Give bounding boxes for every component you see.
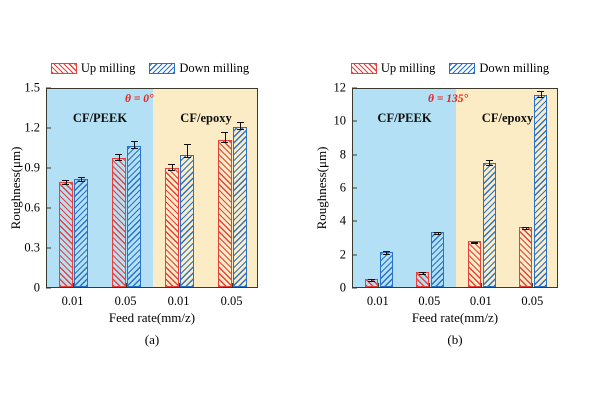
error-bar-cap (237, 129, 244, 130)
x-tick-mark (378, 283, 379, 288)
bar-up-milling (165, 168, 179, 287)
error-bar-cap (62, 184, 69, 185)
x-tick-label: 0.05 (115, 294, 137, 309)
error-bar-cap (78, 177, 85, 178)
error-bar-cap (237, 122, 244, 123)
bar-up-milling (112, 158, 126, 287)
error-bar-cap (522, 229, 529, 230)
bar-up-milling (218, 140, 232, 287)
y-tick-label: 10 (334, 114, 353, 129)
plot-area-a: CF/PEEK CF/epoxy θ = 0° 00.30.60.91.21.5… (46, 88, 258, 288)
bars-container-b (353, 89, 557, 287)
y-tick-label: 0.6 (24, 201, 46, 216)
y-tick-mark (352, 254, 357, 255)
x-axis-label-b: Feed rate(mm/z) (352, 310, 558, 326)
error-bar-cap (383, 251, 390, 252)
error-bar-cap (537, 91, 544, 92)
error-bar-cap (168, 170, 175, 171)
error-bar-cap (434, 234, 441, 235)
y-tick-label: 0.3 (24, 241, 46, 256)
bar-down-milling (74, 179, 88, 287)
error-bar-cap (131, 141, 138, 142)
error-bar-cap (419, 272, 426, 273)
y-tick-label: 6 (340, 181, 352, 196)
x-tick-label: 0.01 (62, 294, 84, 309)
y-tick-mark (46, 248, 51, 249)
bar-down-milling (534, 95, 547, 287)
legend-entry-up-milling: Up milling (51, 62, 136, 75)
y-axis-label-a: Roughness(μm) (8, 147, 24, 230)
error-bar-cap (62, 180, 69, 181)
bar-down-milling (180, 155, 194, 287)
error-bar-cap (383, 254, 390, 255)
y-tick-mark (46, 168, 51, 169)
y-tick-mark (352, 88, 357, 89)
x-tick-mark (179, 283, 180, 288)
error-bar-cap (221, 142, 228, 143)
down-milling-swatch-icon (149, 63, 175, 74)
error-bar-cap (486, 165, 493, 166)
x-tick-mark (232, 283, 233, 288)
legend-entry-up-milling-b: Up milling (351, 62, 436, 75)
y-tick-label: 8 (340, 147, 352, 162)
panel-b: Up milling Down milling Roughness(μm) CF… (300, 0, 600, 400)
y-tick-mark (46, 208, 51, 209)
error-bar (225, 132, 226, 143)
bars-container-a (47, 89, 257, 287)
panel-a: Up milling Down milling Roughness(μm) CF… (0, 0, 300, 400)
x-tick-mark (73, 283, 74, 288)
y-axis-label-b: Roughness(μm) (314, 147, 330, 230)
x-tick-label: 0.01 (168, 294, 190, 309)
error-bar-cap (419, 274, 426, 275)
plot-area-b: CF/PEEK CF/epoxy θ = 135° 024681012 0.01… (352, 88, 558, 288)
error-bar-cap (131, 148, 138, 149)
error-bar (187, 144, 188, 157)
plot-frame-b: CF/PEEK CF/epoxy θ = 135° (352, 88, 558, 288)
legend-panel-b: Up milling Down milling (300, 62, 600, 75)
error-bar-cap (471, 243, 478, 244)
error-bar-cap (115, 160, 122, 161)
y-tick-mark (46, 128, 51, 129)
x-tick-mark (532, 283, 533, 288)
error-bar-cap (78, 181, 85, 182)
y-tick-mark (352, 121, 357, 122)
up-milling-swatch-icon (351, 63, 377, 74)
x-tick-label: 0.05 (221, 294, 243, 309)
plot-frame-a: CF/PEEK CF/epoxy θ = 0° (46, 88, 258, 288)
error-bar-cap (184, 144, 191, 145)
error-bar-cap (537, 97, 544, 98)
x-tick-label: 0.01 (470, 294, 492, 309)
error-bar-cap (168, 164, 175, 165)
legend-label-down-milling: Down milling (179, 62, 249, 75)
y-tick-mark (352, 221, 357, 222)
x-tick-mark (429, 283, 430, 288)
x-tick-label: 0.01 (367, 294, 389, 309)
error-bar-cap (184, 157, 191, 158)
bar-down-milling (233, 127, 247, 287)
panel-tag-a: (a) (46, 332, 258, 348)
y-tick-mark (352, 188, 357, 189)
y-tick-label: 0.9 (24, 161, 46, 176)
x-axis-label-a: Feed rate(mm/z) (46, 310, 258, 326)
y-tick-mark (46, 88, 51, 89)
down-milling-swatch-icon (449, 63, 475, 74)
y-tick-label: 1.2 (24, 121, 46, 136)
legend-entry-down-milling-b: Down milling (449, 62, 549, 75)
x-tick-mark (481, 283, 482, 288)
y-tick-label: 2 (340, 247, 352, 262)
legend-entry-down-milling: Down milling (149, 62, 249, 75)
panel-tag-b: (b) (352, 332, 558, 348)
legend-panel-a: Up milling Down milling (0, 62, 300, 75)
legend-label-up-milling-b: Up milling (381, 62, 436, 75)
y-tick-label: 1.5 (24, 81, 46, 96)
y-tick-label: 0 (34, 281, 46, 296)
bar-down-milling (127, 146, 141, 287)
y-tick-mark (352, 154, 357, 155)
figure-root: Up milling Down milling Roughness(μm) CF… (0, 0, 600, 400)
up-milling-swatch-icon (51, 63, 77, 74)
bar-up-milling (519, 227, 532, 287)
bar-down-milling (380, 252, 393, 287)
error-bar-cap (486, 160, 493, 161)
bar-down-milling (483, 163, 496, 287)
legend-label-down-milling-b: Down milling (479, 62, 549, 75)
y-tick-label: 0 (340, 281, 352, 296)
x-tick-label: 0.05 (418, 294, 440, 309)
y-tick-label: 12 (334, 81, 353, 96)
x-tick-label: 0.05 (521, 294, 543, 309)
bar-down-milling (431, 232, 444, 287)
x-tick-mark (126, 283, 127, 288)
legend-label-up-milling: Up milling (81, 62, 136, 75)
y-tick-label: 4 (340, 214, 352, 229)
error-bar-cap (221, 132, 228, 133)
bar-up-milling (59, 182, 73, 287)
y-tick-mark (46, 288, 51, 289)
error-bar-cap (368, 281, 375, 282)
bar-up-milling (468, 241, 481, 287)
y-tick-mark (352, 288, 357, 289)
error-bar-cap (115, 154, 122, 155)
